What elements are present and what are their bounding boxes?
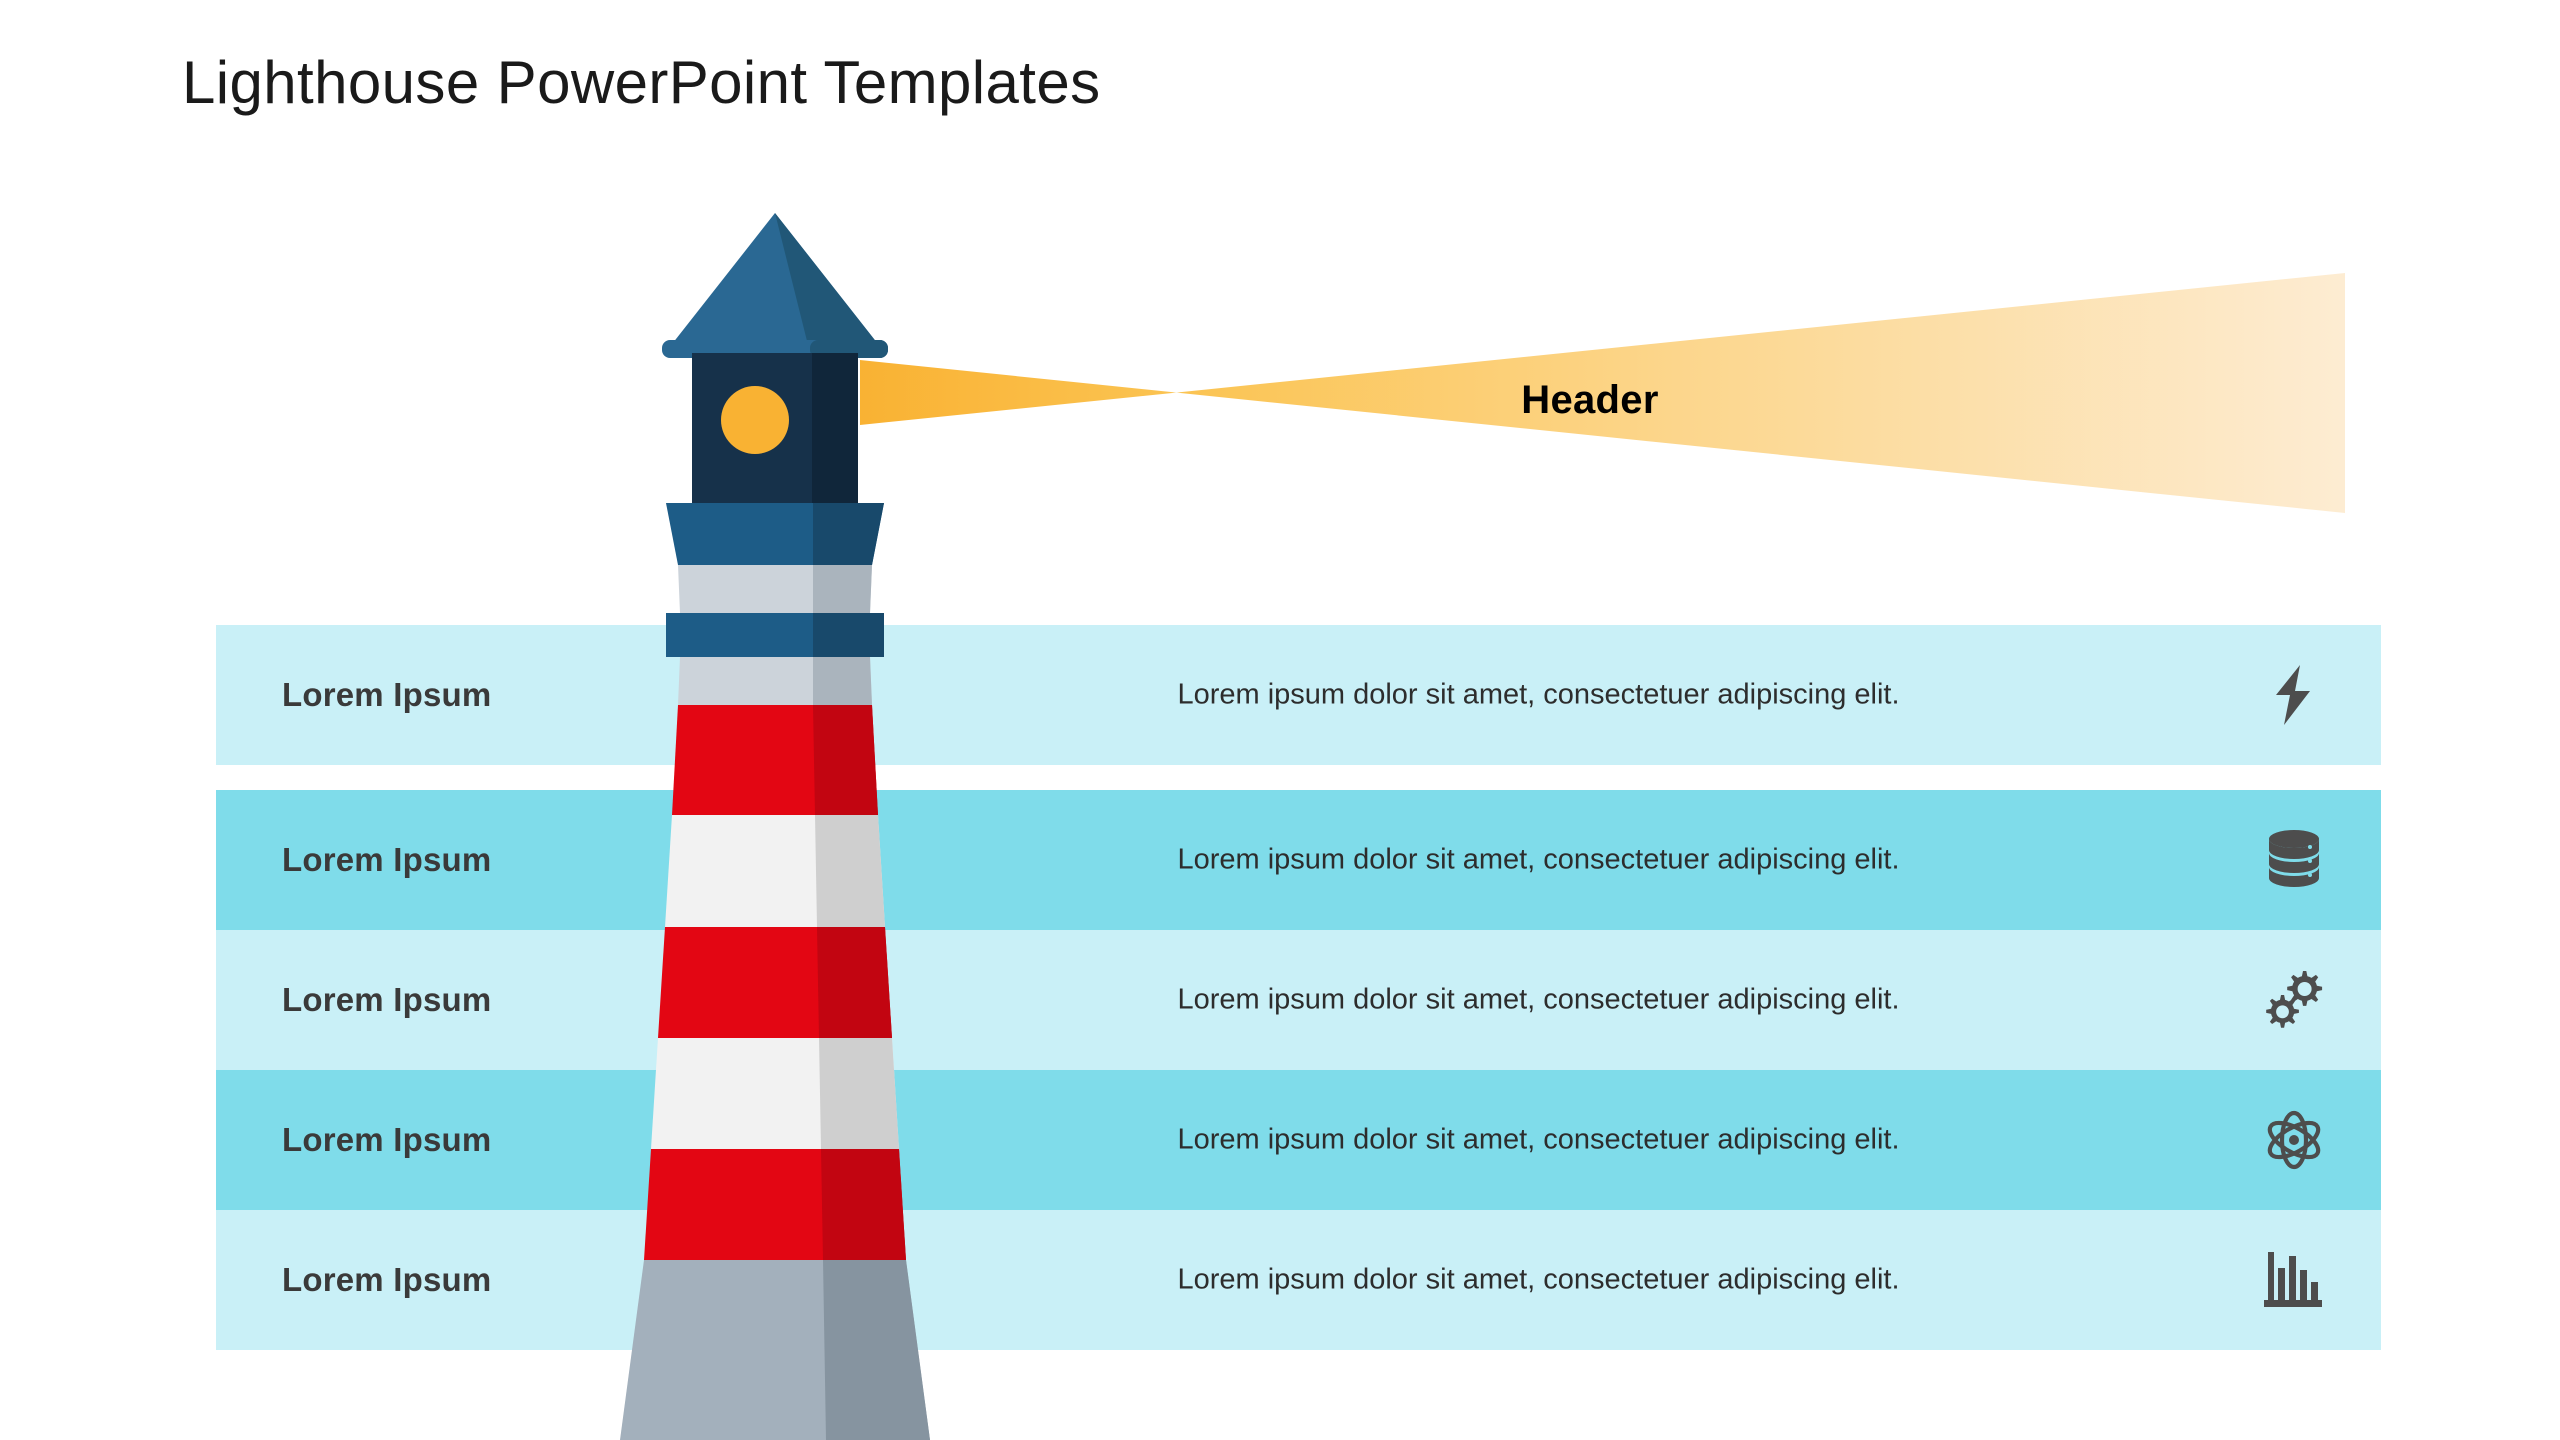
database-icon [2262, 828, 2326, 892]
row-label: Lorem Ipsum [282, 1121, 491, 1159]
atom-icon [2262, 1108, 2326, 1172]
bar-chart-icon [2262, 1248, 2326, 1312]
gears-icon [2262, 968, 2326, 1032]
row-description: Lorem ipsum dolor sit amet, consectetuer… [906, 1264, 2171, 1297]
row-description: Lorem ipsum dolor sit amet, consectetuer… [906, 844, 2171, 877]
table-row[interactable]: Lorem Ipsum Lorem ipsum dolor sit amet, … [216, 625, 2381, 765]
row-description: Lorem ipsum dolor sit amet, consectetuer… [906, 679, 2171, 712]
beam-header-label: Header [1400, 378, 1780, 423]
table-row[interactable]: Lorem Ipsum Lorem ipsum dolor sit amet, … [216, 930, 2381, 1070]
table-row[interactable]: Lorem Ipsum Lorem ipsum dolor sit amet, … [216, 1070, 2381, 1210]
row-description: Lorem ipsum dolor sit amet, consectetuer… [906, 984, 2171, 1017]
row-label: Lorem Ipsum [282, 676, 491, 714]
table-row[interactable]: Lorem Ipsum Lorem ipsum dolor sit amet, … [216, 1210, 2381, 1350]
rows-list: Lorem Ipsum Lorem ipsum dolor sit amet, … [0, 0, 2560, 1440]
table-row[interactable]: Lorem Ipsum Lorem ipsum dolor sit amet, … [216, 790, 2381, 930]
row-description: Lorem ipsum dolor sit amet, consectetuer… [906, 1124, 2171, 1157]
slide-canvas: Lighthouse PowerPoint Templates Lorem Ip… [0, 0, 2560, 1440]
lightning-bolt-icon [2262, 663, 2326, 727]
row-label: Lorem Ipsum [282, 841, 491, 879]
row-label: Lorem Ipsum [282, 1261, 491, 1299]
row-label: Lorem Ipsum [282, 981, 491, 1019]
